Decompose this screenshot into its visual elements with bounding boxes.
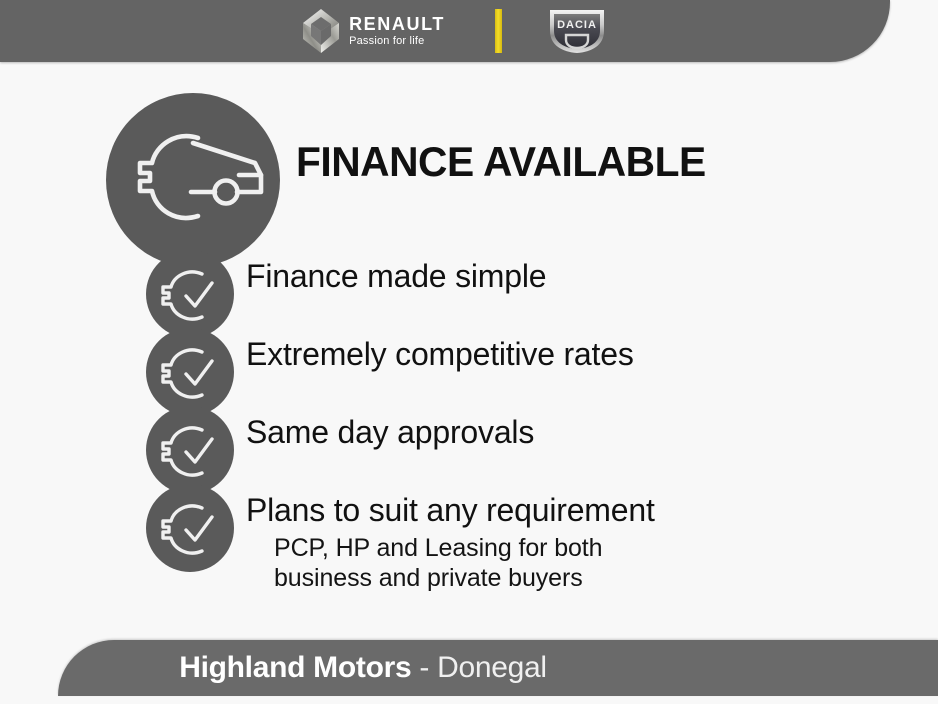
footer-bar: Highland Motors - Donegal xyxy=(58,640,938,696)
euro-check-icon xyxy=(146,328,234,416)
header-bar: RENAULT Passion for life xyxy=(0,0,890,62)
feature-subtext-line-1: PCP, HP and Leasing for both xyxy=(274,533,655,563)
feature-title: Finance made simple xyxy=(246,260,546,294)
feature-text-1: Finance made simple xyxy=(246,252,546,294)
feature-subtext-line-2: business and private buyers xyxy=(274,563,655,593)
euro-check-icon xyxy=(146,406,234,494)
feature-title: Extremely competitive rates xyxy=(246,338,634,372)
renault-tagline: Passion for life xyxy=(349,36,445,47)
brand-divider xyxy=(495,9,502,53)
renault-logo-group: RENAULT Passion for life xyxy=(302,8,445,54)
dealer-name: Highland Motors xyxy=(179,651,411,684)
dealer-location: - Donegal xyxy=(411,651,546,684)
feature-text-3: Same day approvals xyxy=(246,408,534,450)
renault-diamond-icon xyxy=(302,8,340,54)
euro-check-icon xyxy=(146,250,234,338)
dealer-info: Highland Motors - Donegal xyxy=(179,651,547,685)
page-title: FINANCE AVAILABLE xyxy=(296,138,706,186)
feature-row-3: Same day approvals xyxy=(146,408,906,494)
feature-title: Plans to suit any requirement xyxy=(246,494,655,528)
renault-name: RENAULT xyxy=(349,15,445,33)
dacia-shield-icon: DACIA xyxy=(546,7,608,55)
feature-row-1: Finance made simple xyxy=(146,252,906,338)
feature-text-4: Plans to suit any requirement PCP, HP an… xyxy=(246,486,655,593)
renault-wordmark: RENAULT Passion for life xyxy=(349,15,445,47)
euro-check-icon xyxy=(146,484,234,572)
finance-available-poster: RENAULT Passion for life xyxy=(0,0,938,704)
feature-row-2: Extremely competitive rates xyxy=(146,330,906,416)
feature-text-2: Extremely competitive rates xyxy=(246,330,634,372)
brand-row: RENAULT Passion for life xyxy=(302,7,608,55)
feature-title: Same day approvals xyxy=(246,416,534,450)
feature-subtext: PCP, HP and Leasing for both business an… xyxy=(274,533,655,593)
feature-row-4: Plans to suit any requirement PCP, HP an… xyxy=(146,486,906,626)
svg-text:DACIA: DACIA xyxy=(557,19,597,31)
euro-car-icon xyxy=(106,93,280,267)
poster-content: FINANCE AVAILABLE Finance made simple xyxy=(0,62,938,630)
